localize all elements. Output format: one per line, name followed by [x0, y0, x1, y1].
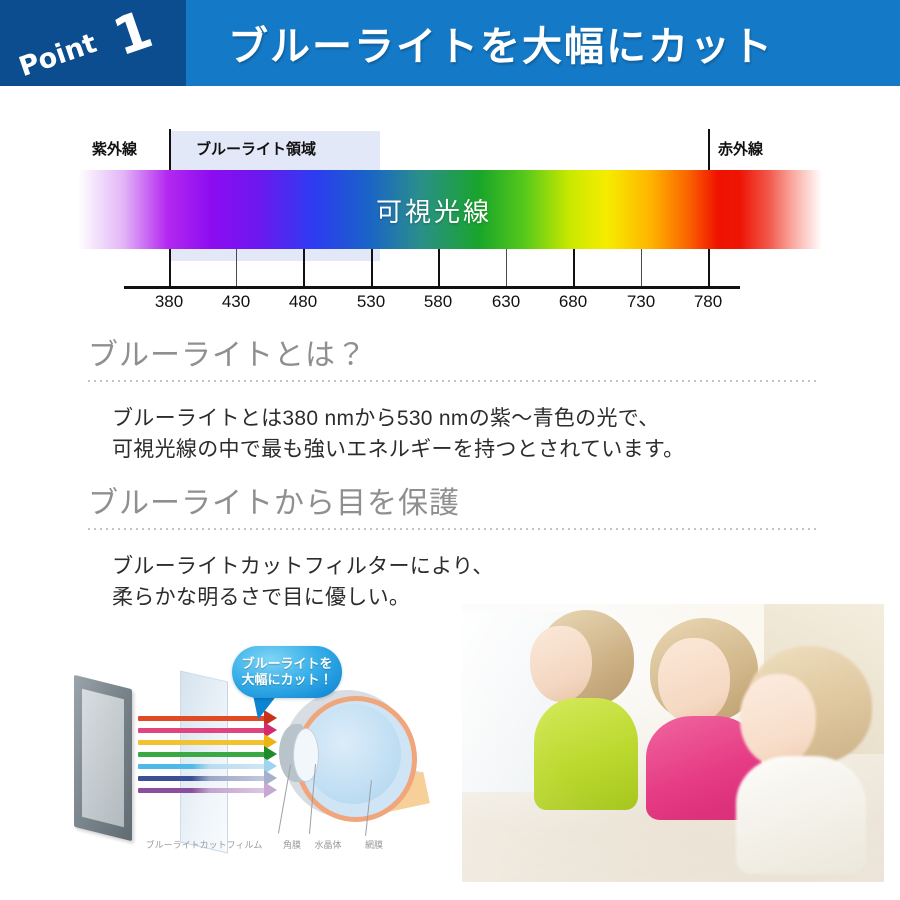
- visible-light-label: 可視光線: [376, 192, 492, 229]
- point-badge-word: Point: [15, 28, 100, 83]
- filter-film: [180, 670, 228, 853]
- section-what-is-blue-light: ブルーライトとは？ ブルーライトとは380 nmから530 nmの紫〜青色の光で…: [0, 330, 900, 470]
- section-heading: ブルーライトとは？: [88, 330, 367, 374]
- axis-tick: [641, 249, 642, 289]
- light-ray-navy-blocked: [138, 776, 266, 781]
- children-photo: [462, 604, 884, 882]
- light-ray-pink: [138, 728, 266, 733]
- axis-tick: [708, 249, 710, 289]
- page-header: Point 1 ブルーライトを大幅にカット: [0, 0, 900, 86]
- ir-label: 赤外線: [718, 138, 763, 159]
- axis-tick: [438, 249, 440, 289]
- axis-tick-label: 380: [155, 292, 183, 312]
- eye-vitreous: [305, 704, 401, 804]
- uv-divider-line: [169, 129, 171, 171]
- page-title: ブルーライトを大幅にカット: [228, 14, 774, 72]
- blue-light-filter-diagram: ブルーライトを 大幅にカット！ ブルーライトカットフィルム 角膜 水晶体 網膜: [60, 640, 460, 880]
- axis-tick: [169, 249, 171, 289]
- monitor-screen: [82, 689, 124, 827]
- section-body-line: ブルーライトとは380 nmから530 nmの紫〜青色の光で、: [112, 402, 660, 432]
- axis-tick-label: 430: [222, 292, 250, 312]
- speech-bubble-line2: 大幅にカット！: [241, 672, 332, 688]
- monitor-icon: [74, 682, 132, 834]
- ir-divider-line: [708, 129, 710, 171]
- speech-bubble-line1: ブルーライトを: [241, 656, 332, 672]
- section-body-line: 柔らかな明るさで目に優しい。: [112, 581, 410, 611]
- light-ray-red: [138, 716, 266, 721]
- photo-soft-overlay: [462, 604, 884, 882]
- axis-tick: [236, 249, 237, 289]
- axis-tick-label: 580: [424, 292, 452, 312]
- section-heading: ブルーライトから目を保護: [88, 478, 460, 522]
- section-body-line: ブルーライトカットフィルターにより、: [112, 550, 494, 580]
- point-badge-number: 1: [108, 4, 159, 65]
- section-divider: [86, 528, 816, 530]
- axis-tick-label: 680: [559, 292, 587, 312]
- axis-tick-label: 530: [357, 292, 385, 312]
- eye-part-label-cornea: 角膜: [283, 838, 301, 851]
- section-divider: [86, 380, 816, 382]
- axis-tick: [303, 249, 305, 289]
- point-badge: Point 1: [0, 0, 186, 86]
- eye-cross-section: [275, 680, 420, 840]
- eye-part-label-retina: 網膜: [365, 838, 383, 851]
- axis-tick-label: 480: [289, 292, 317, 312]
- uv-label: 紫外線: [92, 138, 137, 159]
- header-banner: ブルーライトを大幅にカット: [186, 0, 900, 86]
- infographic-page: Point 1 ブルーライトを大幅にカット 紫外線 ブルーライト領域 赤外線 可…: [0, 0, 900, 900]
- section-body-line: 可視光線の中で最も強いエネルギーを持つとされています。: [112, 433, 684, 463]
- axis-tick: [371, 249, 373, 289]
- axis-tick: [573, 249, 575, 289]
- light-ray-cyan-blocked: [138, 764, 266, 769]
- light-ray-purple-blocked: [138, 788, 266, 793]
- axis-tick: [506, 249, 507, 289]
- eye-part-label-lens: 水晶体: [314, 838, 341, 851]
- speech-bubble: ブルーライトを 大幅にカット！: [232, 646, 342, 698]
- speech-bubble-text: ブルーライトを 大幅にカット！: [232, 646, 342, 698]
- light-ray-yellow: [138, 740, 266, 745]
- axis-line: [124, 286, 740, 289]
- axis-tick-label: 730: [627, 292, 655, 312]
- blue-band-label: ブルーライト領域: [196, 138, 316, 159]
- axis-tick-label: 780: [694, 292, 722, 312]
- spectrum-chart: 紫外線 ブルーライト領域 赤外線 可視光線 380 430 480 530 58…: [0, 96, 900, 321]
- section-eye-protection: ブルーライトから目を保護 ブルーライトカットフィルターにより、 柔らかな明るさで…: [0, 478, 900, 618]
- axis-tick-label: 630: [492, 292, 520, 312]
- film-caption: ブルーライトカットフィルム: [146, 838, 263, 851]
- light-ray-green: [138, 752, 266, 757]
